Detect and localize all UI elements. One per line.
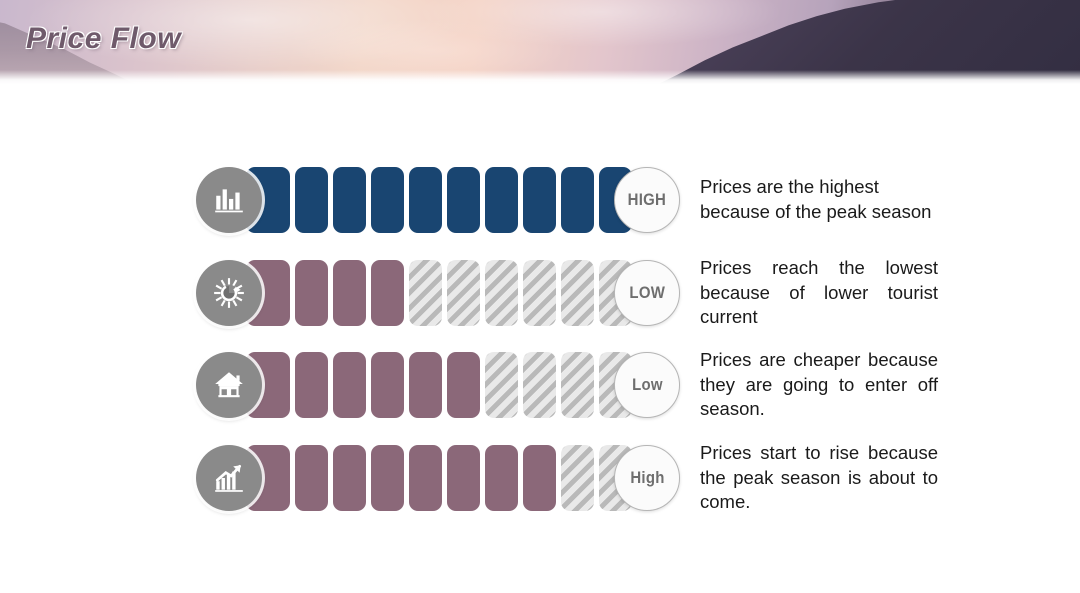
bar-segment [295, 445, 328, 511]
price-level-badge: High [614, 445, 680, 511]
bar-segment [485, 445, 518, 511]
bar-segment-empty [561, 260, 594, 326]
price-flow-row[interactable]: HIGH Prices are the highest because of t… [196, 158, 1080, 242]
bar-segment-empty [409, 260, 442, 326]
bar-segment-empty [485, 352, 518, 418]
row-description: Prices are cheaper because they are goin… [700, 348, 938, 422]
bar-segment [295, 352, 328, 418]
price-level-bars [246, 167, 632, 233]
bar-segment [523, 445, 556, 511]
price-level-bars [246, 260, 632, 326]
bar-segment [371, 445, 404, 511]
growth-arrow-chart-icon [196, 445, 262, 511]
price-level-badge: LOW [614, 260, 680, 326]
bar-segment [447, 167, 480, 233]
price-flow-row[interactable]: Low Prices are cheaper because they are … [196, 343, 1080, 427]
price-level-badge: HIGH [614, 167, 680, 233]
bar-segment [447, 445, 480, 511]
price-flow-row[interactable]: High Prices start to rise because the pe… [196, 436, 1080, 520]
page-title: Price Flow [26, 22, 181, 56]
bar-segment [409, 445, 442, 511]
bar-segment-empty [523, 352, 556, 418]
house-icon [196, 352, 262, 418]
price-level-bars [246, 445, 632, 511]
bar-segment [333, 260, 366, 326]
price-level-label: Low [632, 375, 663, 395]
header-banner: Price Flow [0, 0, 1080, 84]
bar-segment-empty [561, 352, 594, 418]
gauge-spinner-icon [196, 260, 262, 326]
price-level-label: High [630, 468, 664, 488]
price-flow-row[interactable]: LOW Prices reach the lowest because of l… [196, 251, 1080, 335]
row-description: Prices start to rise because the peak se… [700, 441, 938, 515]
bar-segment [485, 167, 518, 233]
bar-segment [561, 167, 594, 233]
bar-segment-empty [523, 260, 556, 326]
price-level-label: LOW [629, 283, 665, 303]
bar-segment [295, 260, 328, 326]
price-level-badge: Low [614, 352, 680, 418]
bar-segment [371, 167, 404, 233]
bar-segment [333, 445, 366, 511]
bar-segment [409, 352, 442, 418]
bar-segment [523, 167, 556, 233]
price-level-bars [246, 352, 632, 418]
bar-segment [371, 260, 404, 326]
row-description: Prices reach the lowest because of lower… [700, 256, 938, 330]
bar-segment-empty [485, 260, 518, 326]
header-bottom-fade [0, 70, 1080, 84]
bar-segment-empty [447, 260, 480, 326]
bar-segment [333, 352, 366, 418]
bar-segment-empty [561, 445, 594, 511]
bar-segment [409, 167, 442, 233]
bar-segment [447, 352, 480, 418]
row-description: Prices are the highest because of the pe… [700, 175, 938, 224]
bar-chart-icon [196, 167, 262, 233]
bar-segment [371, 352, 404, 418]
price-level-label: HIGH [628, 190, 666, 210]
bar-segment [333, 167, 366, 233]
bar-segment [295, 167, 328, 233]
price-flow-diagram: HIGH Prices are the highest because of t… [0, 84, 1080, 593]
